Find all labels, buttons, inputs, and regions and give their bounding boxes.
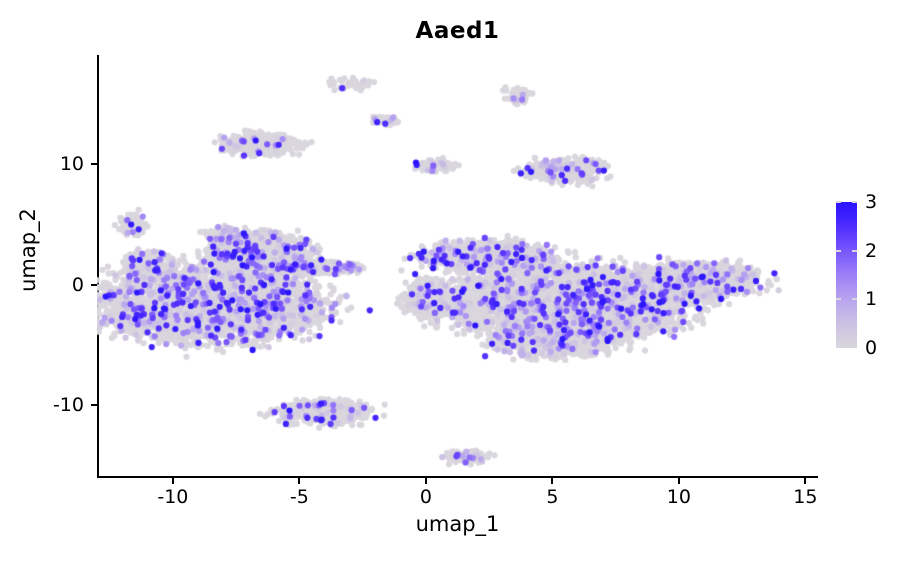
colorbar-tick-label: 3 (865, 191, 877, 213)
page-title: Aaed1 (97, 18, 818, 44)
y-tick-label: -10 (53, 394, 84, 416)
x-tick-label: 5 (546, 486, 558, 508)
colorbar-tick-mark (852, 201, 857, 203)
x-tick-mark (172, 478, 174, 484)
plot-axes-area (97, 55, 818, 478)
colorbar-tick-label: 2 (865, 240, 877, 262)
y-tick-label: 10 (60, 153, 84, 175)
colorbar-tick-mark (836, 201, 841, 203)
x-tick-mark (551, 478, 553, 484)
x-axis-label: umap_1 (97, 512, 818, 536)
y-tick-mark (91, 404, 97, 406)
y-tick-mark (91, 284, 97, 286)
scatter-plot-points (97, 55, 818, 478)
figure-canvas: Aaed1 -10-5051015 -10010 umap_1 umap_2 0… (0, 0, 911, 562)
colorbar-tick-mark (836, 298, 841, 300)
x-tick-label: -5 (290, 486, 309, 508)
x-tick-label: 10 (667, 486, 691, 508)
x-tick-label: 0 (420, 486, 432, 508)
colorbar-tick-label: 0 (865, 337, 877, 359)
colorbar-gradient-bar (836, 202, 857, 348)
x-tick-mark (804, 478, 806, 484)
colorbar-tick-mark (852, 298, 857, 300)
x-tick-mark (425, 478, 427, 484)
y-axis-label: umap_2 (16, 130, 40, 370)
colorbar-tick-mark (852, 250, 857, 252)
y-tick-mark (91, 163, 97, 165)
colorbar-legend: 0123 (836, 202, 911, 352)
x-tick-label: 15 (793, 486, 817, 508)
x-tick-label: -10 (157, 486, 188, 508)
colorbar-tick-mark (836, 250, 841, 252)
x-tick-mark (678, 478, 680, 484)
y-tick-label: 0 (72, 274, 84, 296)
x-tick-mark (298, 478, 300, 484)
colorbar-tick-label: 1 (865, 288, 877, 310)
